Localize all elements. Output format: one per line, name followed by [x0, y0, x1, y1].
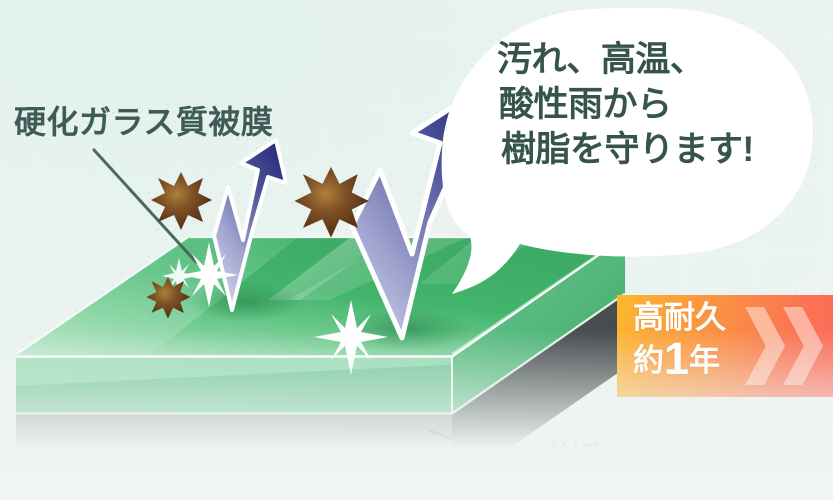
bubble-line-2: 酸性雨から: [499, 83, 807, 128]
bubble-line-3: 樹脂を守ります!: [501, 128, 807, 173]
coating-label: 硬化ガラス質被膜: [14, 97, 273, 143]
bubble-line-1: 汚れ、高温、: [497, 38, 807, 83]
bottom-fade-overlay: [0, 330, 833, 500]
badge-line-1: 高耐久: [633, 302, 726, 333]
speech-bubble-text: 汚れ、高温、 酸性雨から 樹脂を守ります!: [497, 38, 807, 172]
illustration-canvas: 汚れ、高温、 酸性雨から 樹脂を守ります! 硬化ガラス質被膜 樹脂 高耐久 約1…: [0, 0, 833, 500]
